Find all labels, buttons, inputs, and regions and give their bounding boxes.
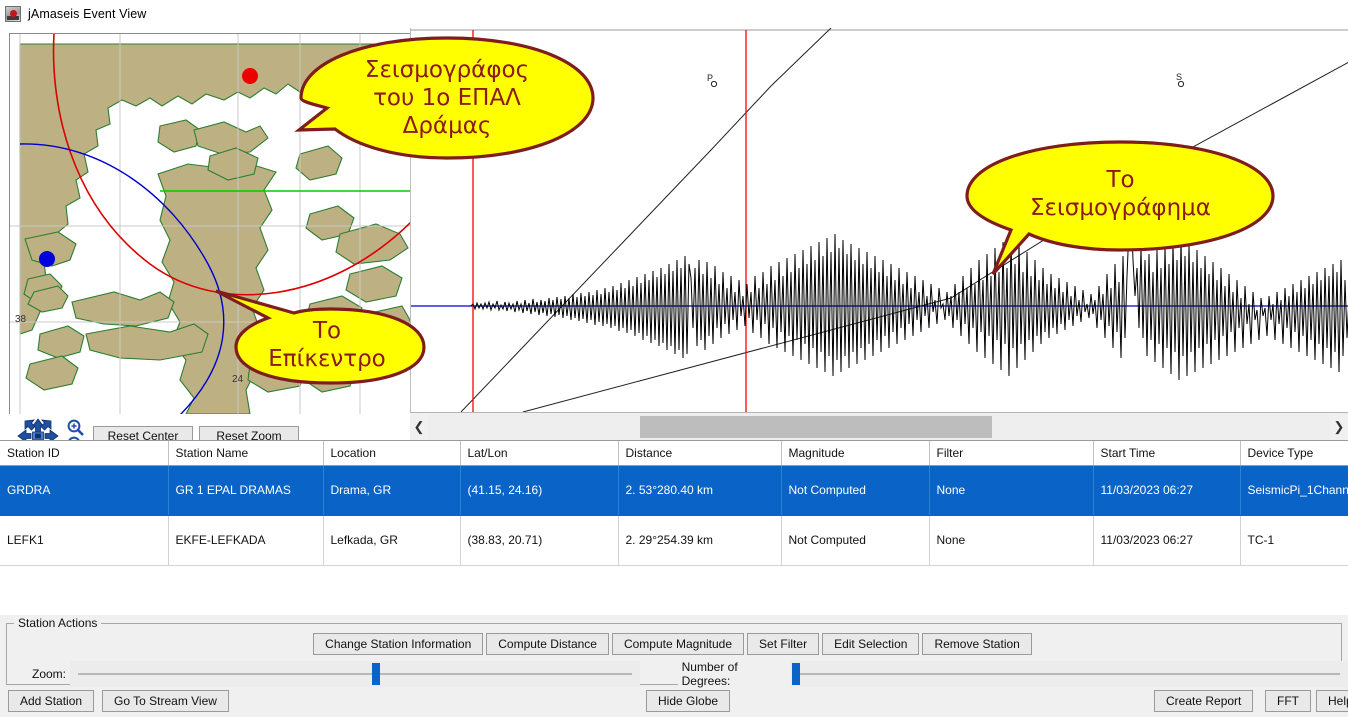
column-header-station-id[interactable]: Station ID <box>0 441 168 465</box>
scrollbar-track[interactable] <box>428 414 1330 440</box>
cell-station-id[interactable]: LEFK1 <box>0 515 168 565</box>
map-epicenter-marker <box>39 251 55 267</box>
table-empty-area[interactable] <box>0 566 1348 612</box>
cell-station-name[interactable]: GR 1 EPAL DRAMAS <box>168 465 323 515</box>
cell-lat-lon[interactable]: (41.15, 24.16) <box>460 465 618 515</box>
cell-magnitude[interactable]: Not Computed <box>781 465 929 515</box>
zoom-slider[interactable] <box>70 661 640 687</box>
jamaseis-event-view-window: jAmaseis Event View <box>0 0 1348 717</box>
cell-location[interactable]: Lefkada, GR <box>323 515 460 565</box>
station-table-container[interactable]: Station ID Station Name Location Lat/Lon… <box>0 440 1348 615</box>
cell-lat-lon[interactable]: (38.83, 20.71) <box>460 515 618 565</box>
table-row[interactable]: GRDRA GR 1 EPAL DRAMAS Drama, GR (41.15,… <box>0 465 1348 515</box>
title-bar: jAmaseis Event View <box>0 0 1348 28</box>
window-title: jAmaseis Event View <box>28 7 146 21</box>
table-row[interactable]: LEFK1 EKFE-LEFKADA Lefkada, GR (38.83, 2… <box>0 515 1348 565</box>
fft-button[interactable]: FFT <box>1265 690 1311 712</box>
column-header-distance[interactable]: Distance <box>618 441 781 465</box>
cell-filter[interactable]: None <box>929 515 1093 565</box>
upper-pane: 38 24 26 <box>0 28 1348 440</box>
compute-magnitude-button[interactable]: Compute Magnitude <box>612 633 744 655</box>
zoom-slider-label: Zoom: <box>28 667 70 681</box>
callout-station: Σεισμογράφος του 1ο ΕΠΑΛ Δράμας <box>297 34 597 162</box>
hide-globe-button[interactable]: Hide Globe <box>646 690 730 712</box>
sliders-row: Zoom: Number of Degrees: <box>0 661 1348 687</box>
callout-seismogram: Το Σεισμογράφημα <box>963 138 1278 278</box>
cell-location[interactable]: Drama, GR <box>323 465 460 515</box>
set-filter-button[interactable]: Set Filter <box>747 633 819 655</box>
column-header-start-time[interactable]: Start Time <box>1093 441 1240 465</box>
column-header-device-type[interactable]: Device Type <box>1240 441 1348 465</box>
cell-start-time[interactable]: 11/03/2023 06:27 <box>1093 515 1240 565</box>
degrees-slider-knob[interactable] <box>792 663 800 685</box>
go-to-stream-view-button[interactable]: Go To Stream View <box>102 690 229 712</box>
bottom-button-bar: Add Station Go To Stream View Hide Globe… <box>0 687 1348 717</box>
add-station-button[interactable]: Add Station <box>8 690 94 712</box>
scroll-left-arrow[interactable]: ❮ <box>410 414 428 440</box>
station-actions-legend: Station Actions <box>14 616 101 630</box>
remove-station-button[interactable]: Remove Station <box>922 633 1031 655</box>
change-station-information-button[interactable]: Change Station Information <box>313 633 483 655</box>
cell-station-id[interactable]: GRDRA <box>0 465 168 515</box>
cell-filter[interactable]: None <box>929 465 1093 515</box>
cell-magnitude[interactable]: Not Computed <box>781 515 929 565</box>
column-header-lat-lon[interactable]: Lat/Lon <box>460 441 618 465</box>
zoom-slider-rail <box>78 673 632 675</box>
map-station-marker <box>242 68 258 84</box>
station-actions-buttons: Change Station Information Compute Dista… <box>0 633 1348 657</box>
cell-device-type[interactable]: SeismicPi_1Channel <box>1240 465 1348 515</box>
cell-station-name[interactable]: EKFE-LEFKADA <box>168 515 323 565</box>
callout-epicenter: Το Επίκεντρο <box>212 289 427 387</box>
scrollbar-thumb[interactable] <box>640 416 992 438</box>
degrees-slider-label: Number of Degrees: <box>678 660 790 688</box>
compute-distance-button[interactable]: Compute Distance <box>486 633 609 655</box>
table-header-row: Station ID Station Name Location Lat/Lon… <box>0 441 1348 465</box>
cell-start-time[interactable]: 11/03/2023 06:27 <box>1093 465 1240 515</box>
column-header-filter[interactable]: Filter <box>929 441 1093 465</box>
station-actions-group: Station Actions Change Station Informati… <box>0 615 1348 687</box>
seismogram-horizontal-scrollbar[interactable]: ❮ ❯ <box>410 412 1348 440</box>
seismometer-icon <box>5 6 21 22</box>
column-header-station-name[interactable]: Station Name <box>168 441 323 465</box>
create-report-button[interactable]: Create Report <box>1154 690 1253 712</box>
s-phase-label: S <box>1176 72 1182 82</box>
svg-text:38: 38 <box>15 314 27 325</box>
station-table: Station ID Station Name Location Lat/Lon… <box>0 441 1348 566</box>
cell-distance[interactable]: 2. 29°254.39 km <box>618 515 781 565</box>
edit-selection-button[interactable]: Edit Selection <box>822 633 919 655</box>
column-header-magnitude[interactable]: Magnitude <box>781 441 929 465</box>
column-header-location[interactable]: Location <box>323 441 460 465</box>
scroll-right-arrow[interactable]: ❯ <box>1330 414 1348 440</box>
degrees-slider-rail <box>798 673 1340 675</box>
help-button[interactable]: Help <box>1316 690 1348 712</box>
cell-device-type[interactable]: TC-1 <box>1240 515 1348 565</box>
degrees-slider[interactable] <box>790 661 1348 687</box>
cell-distance[interactable]: 2. 53°280.40 km <box>618 465 781 515</box>
zoom-slider-knob[interactable] <box>372 663 380 685</box>
zoom-in-icon <box>69 421 83 435</box>
p-phase-label: P <box>707 73 713 83</box>
